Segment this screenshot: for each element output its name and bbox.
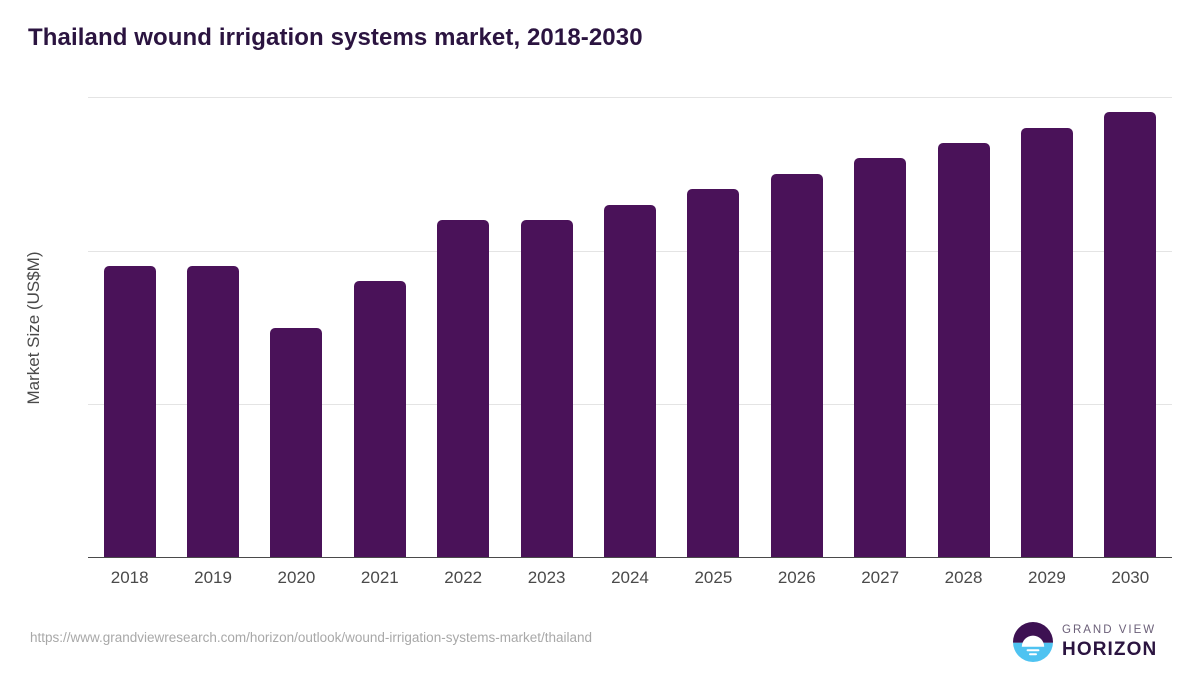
x-axis-tick-label: 2025 — [672, 568, 755, 588]
bar-slot — [88, 97, 171, 558]
x-axis-tick-label: 2026 — [755, 568, 838, 588]
bar[interactable] — [687, 189, 739, 558]
x-axis-tick-label: 2027 — [838, 568, 921, 588]
brand-logo: GRAND VIEW HORIZON — [1013, 620, 1157, 664]
bar[interactable] — [521, 220, 573, 558]
y-axis-title-container: Market Size (US$M) — [16, 97, 52, 558]
bar[interactable] — [270, 328, 322, 559]
x-axis-tick-label: 2028 — [922, 568, 1005, 588]
bar-slot — [1005, 97, 1088, 558]
x-axis-tick-label: 2024 — [588, 568, 671, 588]
x-axis-tick-label: 2021 — [338, 568, 421, 588]
bar-slot — [588, 97, 671, 558]
bar-slot — [755, 97, 838, 558]
brand-bottom-text: HORIZON — [1062, 640, 1157, 659]
bar[interactable] — [938, 143, 990, 558]
bar-slot — [838, 97, 921, 558]
x-axis-tick-label: 2023 — [505, 568, 588, 588]
bars-layer — [88, 97, 1172, 558]
bar-slot — [1089, 97, 1172, 558]
bar[interactable] — [854, 158, 906, 558]
bar-slot — [171, 97, 254, 558]
bar-slot — [922, 97, 1005, 558]
page-title: Thailand wound irrigation systems market… — [28, 24, 643, 52]
x-axis-tick-label: 2022 — [422, 568, 505, 588]
chart-page: Thailand wound irrigation systems market… — [0, 0, 1200, 675]
x-axis-tick-label: 2018 — [88, 568, 171, 588]
bar-slot — [505, 97, 588, 558]
plot-area: 0123 — [88, 97, 1172, 558]
brand-text: GRAND VIEW HORIZON — [1062, 625, 1157, 659]
y-axis-title: Market Size (US$M) — [24, 251, 44, 404]
bar[interactable] — [1104, 112, 1156, 558]
bar[interactable] — [604, 205, 656, 558]
x-axis-line — [88, 557, 1172, 559]
bar[interactable] — [437, 220, 489, 558]
source-url[interactable]: https://www.grandviewresearch.com/horizo… — [30, 630, 592, 645]
x-axis-tick-labels: 2018201920202021202220232024202520262027… — [88, 568, 1172, 596]
x-axis-tick-label: 2030 — [1089, 568, 1172, 588]
bar[interactable] — [104, 266, 156, 558]
bar[interactable] — [771, 174, 823, 558]
x-axis-tick-label: 2019 — [171, 568, 254, 588]
bar[interactable] — [187, 266, 239, 558]
grand-view-horizon-logo-icon — [1013, 622, 1053, 662]
bar-slot — [672, 97, 755, 558]
x-axis-tick-label: 2020 — [255, 568, 338, 588]
x-axis-tick-label: 2029 — [1005, 568, 1088, 588]
bar-slot — [338, 97, 421, 558]
brand-top-text: GRAND VIEW — [1062, 625, 1157, 637]
bar-slot — [422, 97, 505, 558]
bar[interactable] — [1021, 128, 1073, 558]
bar-slot — [255, 97, 338, 558]
bar[interactable] — [354, 281, 406, 558]
